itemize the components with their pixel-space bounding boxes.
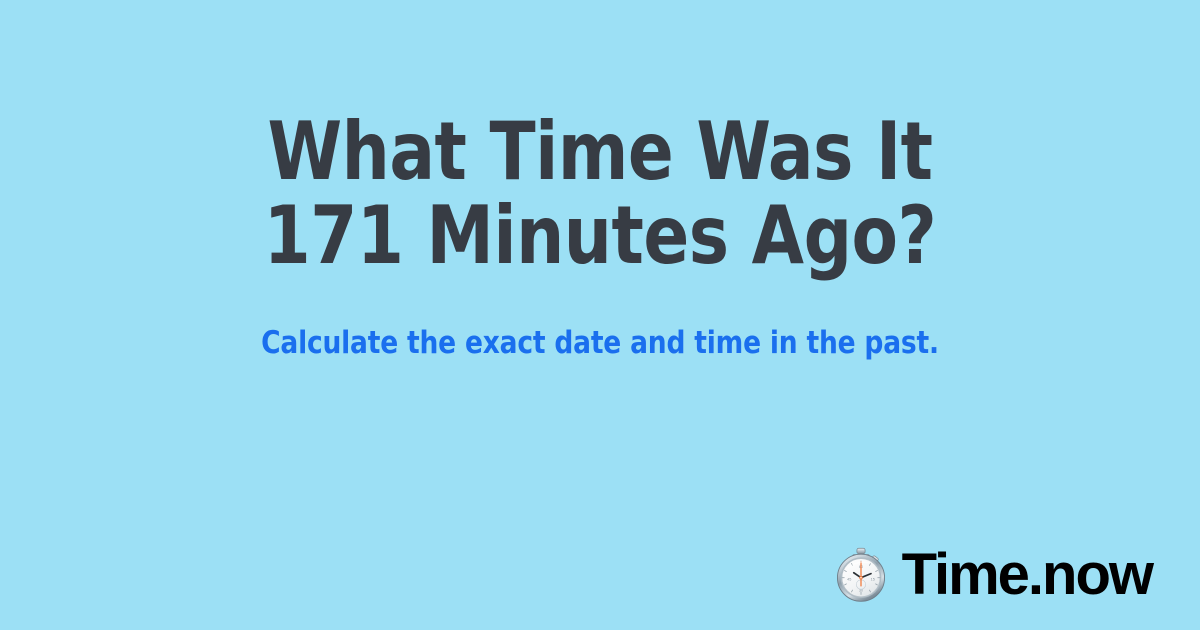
stopwatch-icon: 60 15 30 45	[832, 546, 890, 604]
page-subtitle: Calculate the exact date and time in the…	[68, 278, 1132, 360]
svg-text:15: 15	[870, 577, 874, 581]
svg-text:45: 45	[847, 577, 851, 581]
brand-name: Time.now	[902, 546, 1152, 604]
hero-block: What Time Was It 171 Minutes Ago? Calcul…	[0, 0, 1200, 470]
og-card: What Time Was It 171 Minutes Ago? Calcul…	[0, 0, 1200, 630]
page-title: What Time Was It 171 Minutes Ago?	[74, 110, 1127, 278]
brand-logo[interactable]: 60 15 30 45 Time.now	[832, 546, 1152, 604]
